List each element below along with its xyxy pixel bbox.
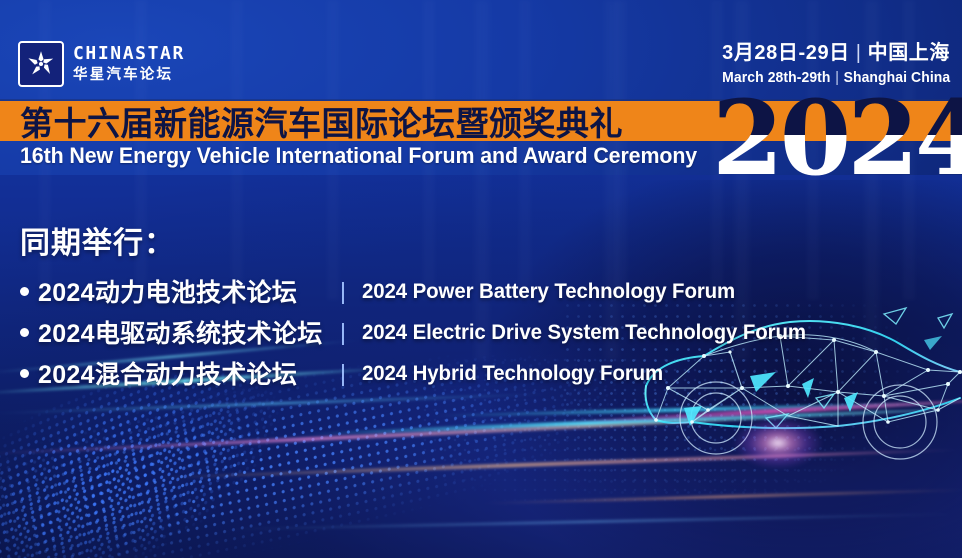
item-separator: | <box>340 319 346 346</box>
concurrent-events-section: 同期举行： 2024动力电池技术论坛 | 2024 Power Battery … <box>20 218 829 391</box>
list-item: 2024动力电池技术论坛 | 2024 Power Battery Techno… <box>20 273 829 309</box>
date-location-en: March 28th-29th|Shanghai China <box>722 69 950 86</box>
forum-name-cn: 2024混合动力技术论坛 <box>38 355 338 391</box>
brand-wordmark: CHINASTAR 华星汽车论坛 <box>73 45 185 83</box>
event-banner: CHINASTAR 华星汽车论坛 3月28日-29日|中国上海 March 28… <box>0 0 962 558</box>
year-display: 2024 2024 <box>712 95 962 187</box>
bullet-icon <box>20 369 29 378</box>
page-title-cn: 第十六届新能源汽车国际论坛暨颁奖典礼 <box>20 100 623 142</box>
brand-name-en: CHINASTAR <box>73 45 185 63</box>
date-en-text: March 28th-29th <box>722 69 830 86</box>
concurrent-heading: 同期举行： <box>20 218 829 262</box>
date-cn-text: 3月28日-29日 <box>722 42 850 64</box>
star-badge-icon <box>18 41 64 87</box>
brand-logo[interactable]: CHINASTAR 华星汽车论坛 <box>18 41 185 87</box>
location-cn-text: 中国上海 <box>868 42 950 64</box>
forum-name-en: 2024 Electric Drive System Technology Fo… <box>362 320 806 345</box>
item-separator: | <box>340 360 346 387</box>
brand-name-cn: 华星汽车论坛 <box>73 68 185 83</box>
location-en-text: Shanghai China <box>843 69 950 86</box>
page-title-en: 16th New Energy Vehicle International Fo… <box>20 143 697 169</box>
bullet-icon <box>20 287 29 296</box>
item-separator: | <box>340 278 346 305</box>
forum-name-cn: 2024动力电池技术论坛 <box>38 273 338 309</box>
date-separator-cn: | <box>850 42 868 64</box>
bullet-icon <box>20 328 29 337</box>
date-location-cn: 3月28日-29日|中国上海 <box>705 42 950 64</box>
forum-name-en: 2024 Hybrid Technology Forum <box>362 361 663 386</box>
event-date-location: 3月28日-29日|中国上海 March 28th-29th|Shanghai … <box>705 42 950 86</box>
concurrent-list: 2024动力电池技术论坛 | 2024 Power Battery Techno… <box>20 273 829 391</box>
forum-name-en: 2024 Power Battery Technology Forum <box>362 279 735 304</box>
banner-header: CHINASTAR 华星汽车论坛 3月28日-29日|中国上海 March 28… <box>0 0 962 101</box>
date-separator-en: | <box>830 69 843 86</box>
list-item: 2024混合动力技术论坛 | 2024 Hybrid Technology Fo… <box>20 355 829 391</box>
list-item: 2024电驱动系统技术论坛 | 2024 Electric Drive Syst… <box>20 314 829 350</box>
forum-name-cn: 2024电驱动系统技术论坛 <box>38 314 338 350</box>
